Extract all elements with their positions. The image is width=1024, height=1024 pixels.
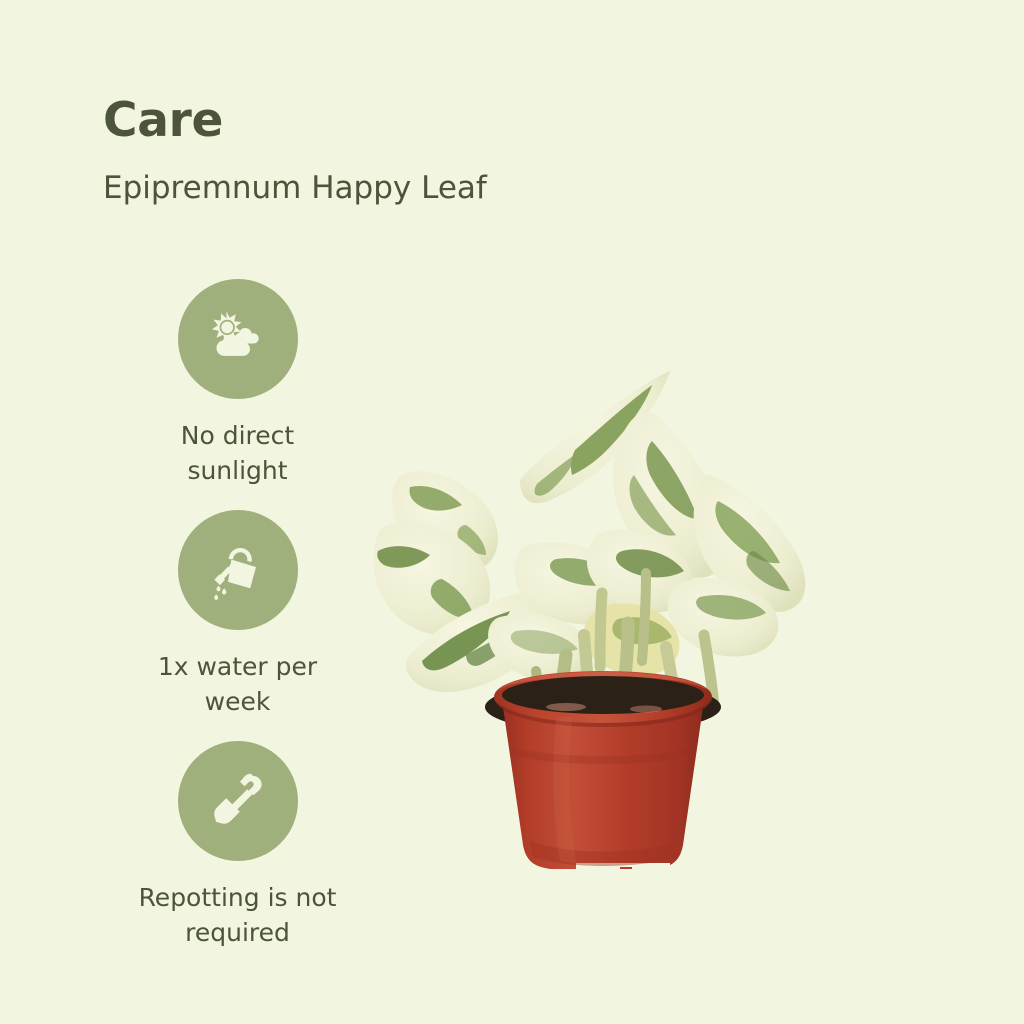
page-title: Care (103, 96, 703, 145)
care-item-label-repotting: Repotting is not required (95, 881, 380, 950)
care-instruction-list: No direct sunlight (95, 279, 380, 950)
header: Care Epipremnum Happy Leaf (103, 96, 703, 205)
care-icon-badge-water (178, 510, 298, 630)
care-icon-badge-repotting (178, 741, 298, 861)
care-card: Care Epipremnum Happy Leaf (0, 0, 1024, 1024)
plant-pot (494, 671, 712, 875)
care-item-repotting: Repotting is not required (95, 741, 380, 950)
watering-can-icon (206, 538, 270, 602)
plant-name-subtitle: Epipremnum Happy Leaf (103, 171, 703, 205)
care-item-sunlight: No direct sunlight (95, 279, 380, 488)
sun-behind-cloud-icon (207, 308, 269, 370)
care-item-water: 1x water per week (95, 510, 380, 719)
care-item-label-water: 1x water per week (95, 650, 380, 719)
plant-foliage (373, 371, 805, 711)
plant-photo (370, 355, 830, 875)
care-icon-badge-sunlight (178, 279, 298, 399)
care-item-label-sunlight: No direct sunlight (95, 419, 380, 488)
shovel-icon (209, 772, 267, 830)
